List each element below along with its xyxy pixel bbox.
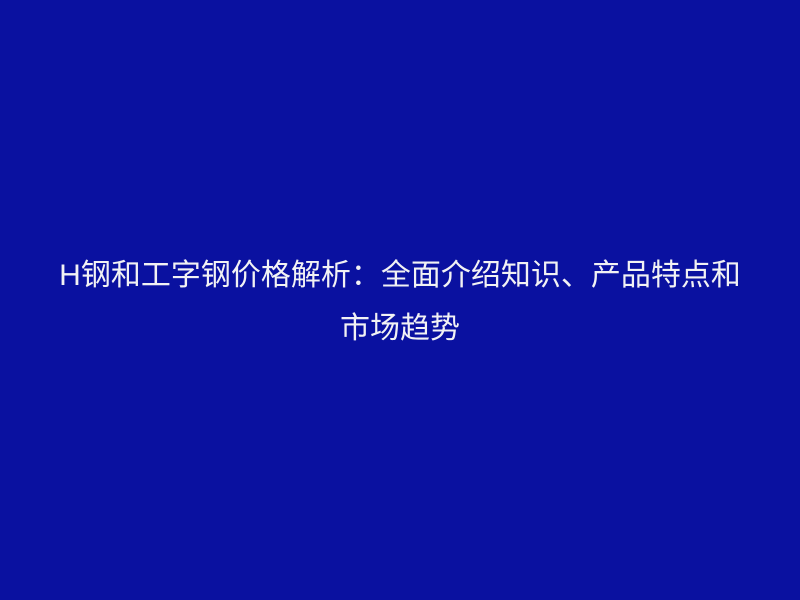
- title-slide: H钢和工字钢价格解析：全面介绍知识、产品特点和市场趋势: [0, 0, 800, 600]
- page-title: H钢和工字钢价格解析：全面介绍知识、产品特点和市场趋势: [56, 249, 744, 355]
- title-block: H钢和工字钢价格解析：全面介绍知识、产品特点和市场趋势: [56, 249, 744, 355]
